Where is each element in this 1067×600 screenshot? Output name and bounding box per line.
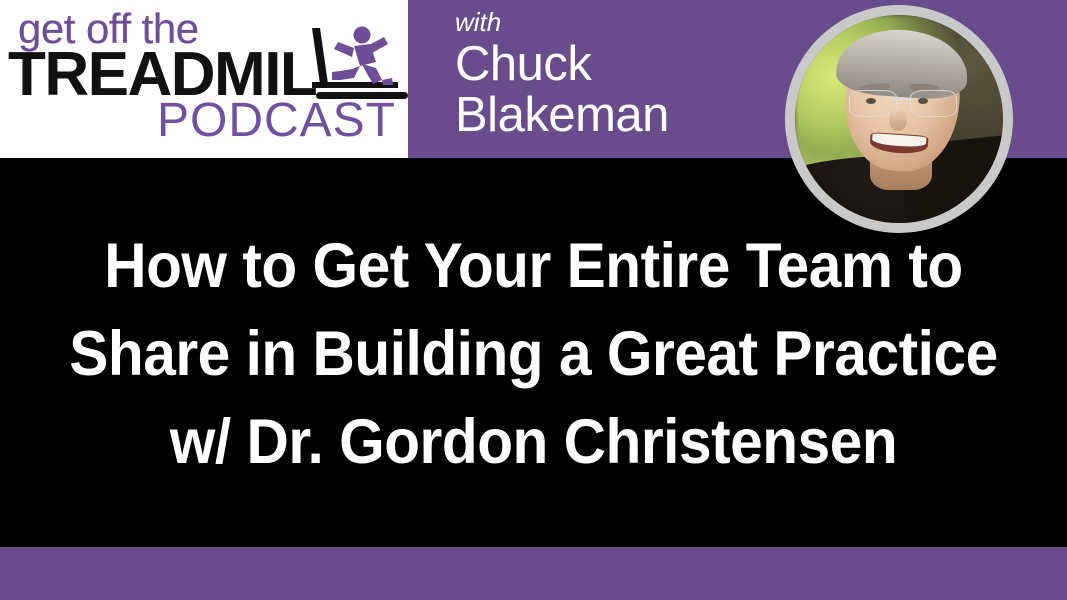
podcast-logo-panel: get off the TREADMIL: [0, 0, 408, 158]
episode-title-line-3: w/ Dr. Gordon Christensen: [37, 398, 1029, 486]
episode-title-line-1: How to Get Your Entire Team to: [37, 222, 1029, 310]
portrait-teeth: [872, 133, 926, 147]
logo-wordmark-podcast: PODCAST: [157, 97, 396, 145]
host-last-name: Blakeman: [455, 90, 785, 141]
footer-band: [0, 547, 1067, 600]
host-portrait-avatar: [785, 5, 1013, 233]
portrait-lens-right: [910, 90, 957, 117]
treadmill-runner-icon: [296, 22, 408, 104]
host-credit: with Chuck Blakeman: [455, 8, 785, 141]
host-prefix-label: with: [455, 8, 785, 37]
episode-title: How to Get Your Entire Team to Share in …: [0, 222, 1067, 486]
host-first-name: Chuck: [455, 39, 785, 90]
episode-title-line-2: Share in Building a Great Practice: [37, 310, 1029, 398]
podcast-episode-cover: get off the TREADMIL: [0, 0, 1067, 600]
host-portrait-photo: [795, 15, 1003, 223]
portrait-glasses-bridge: [895, 98, 912, 100]
